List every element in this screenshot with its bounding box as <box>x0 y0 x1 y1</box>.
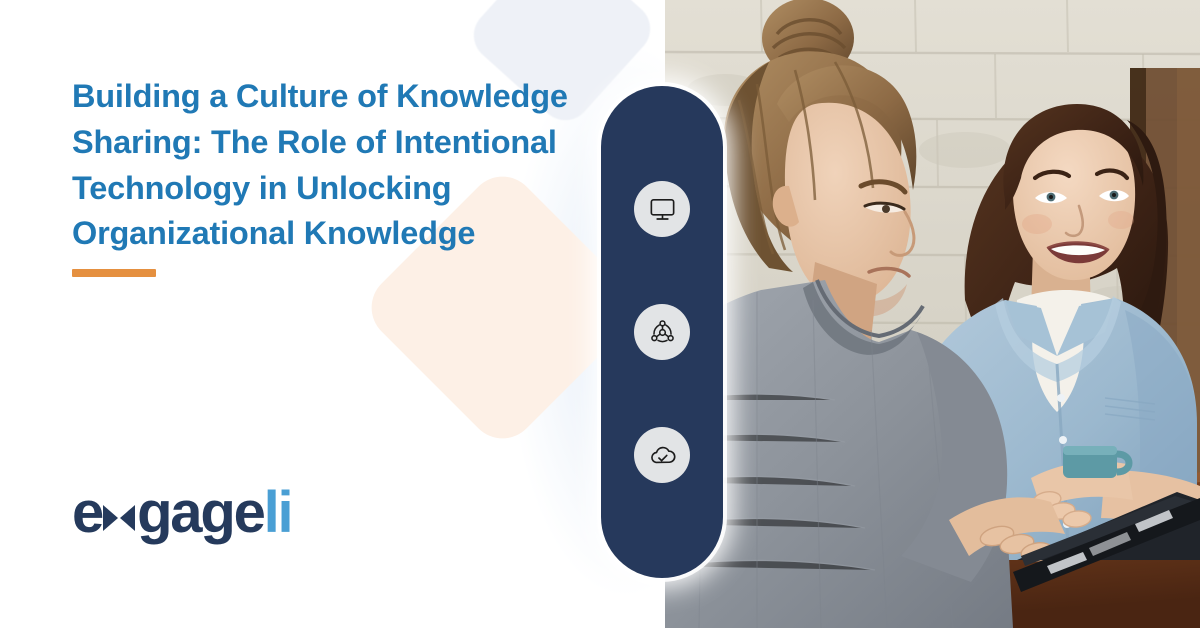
hero-photo <box>665 0 1200 628</box>
page-title: Building a Culture of Knowledge Sharing:… <box>72 74 602 257</box>
accent-bar <box>72 269 156 277</box>
monitor-icon[interactable] <box>634 181 690 237</box>
logo-text-part-three: li <box>264 484 292 542</box>
bowtie-icon <box>102 501 136 535</box>
network-nodes-icon[interactable] <box>634 304 690 360</box>
logo-text-part-one: e <box>72 484 102 542</box>
feature-icon-panel <box>601 86 723 578</box>
logo-text-part-two: gage <box>137 484 264 542</box>
blog-banner: Building a Culture of Knowledge Sharing:… <box>0 0 1200 628</box>
engageli-logo[interactable]: e gage li <box>72 484 291 542</box>
cloud-check-icon[interactable] <box>634 427 690 483</box>
